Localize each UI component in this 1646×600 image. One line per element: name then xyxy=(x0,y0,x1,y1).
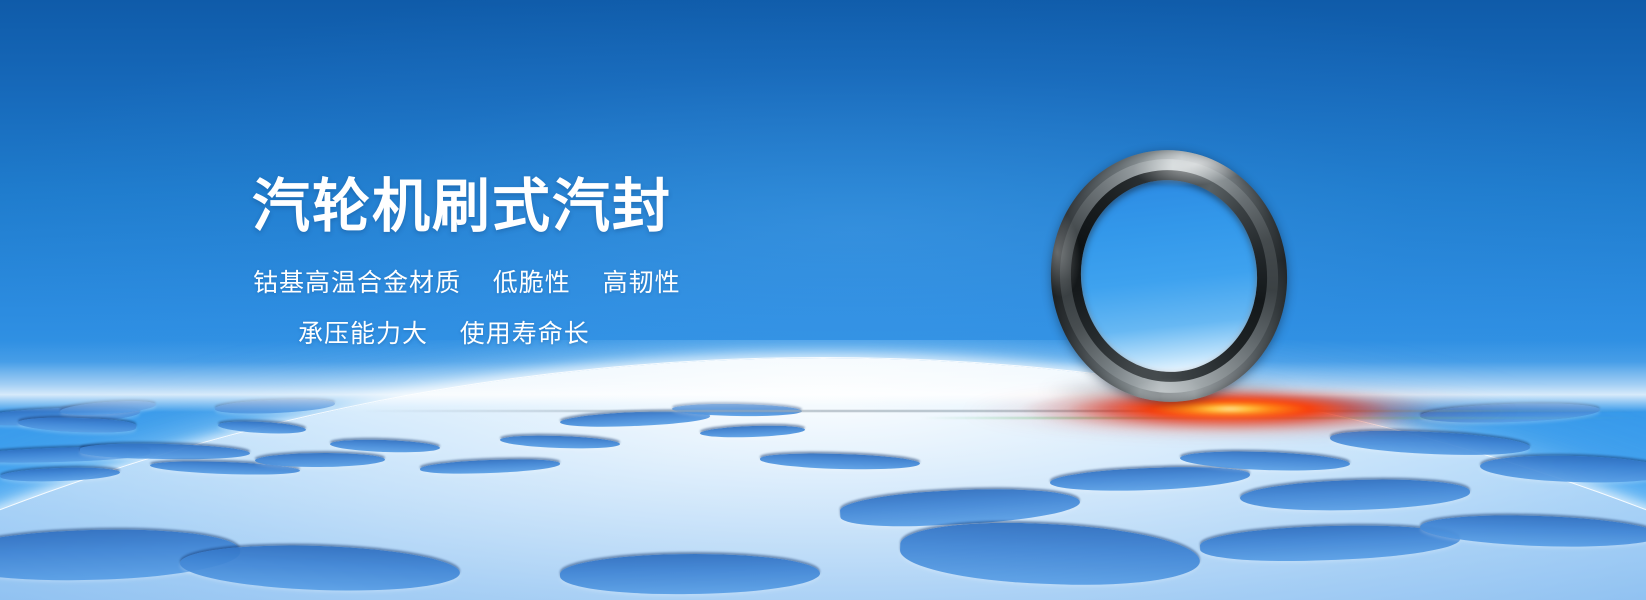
earth-scene xyxy=(0,340,1646,600)
landmass xyxy=(1480,453,1646,486)
landmass xyxy=(215,398,335,415)
banner-subtitle-1: 钴基高温合金材质 低脆性 高韧性 xyxy=(253,271,681,296)
landmass xyxy=(218,420,306,436)
landmass xyxy=(700,424,805,439)
landmass xyxy=(0,466,120,483)
landmass xyxy=(899,519,1201,589)
hero-banner: 汽轮机刷式汽封 钴基高温合金材质 低脆性 高韧性 承压能力大 使用寿命长 xyxy=(0,0,1646,600)
landmass xyxy=(330,438,440,454)
landmass xyxy=(500,434,620,450)
landmass xyxy=(1050,465,1251,494)
banner-headline: 汽轮机刷式汽封 xyxy=(252,178,672,236)
landmass xyxy=(760,451,920,472)
landmass xyxy=(420,458,560,476)
red-glow-reflection xyxy=(1030,416,1430,446)
landmass-layer xyxy=(0,340,1646,600)
product-seal-ring xyxy=(1038,138,1299,413)
banner-subtitle-2: 承压能力大 使用寿命长 xyxy=(298,322,590,347)
landmass xyxy=(179,541,460,595)
landmass xyxy=(1240,476,1471,514)
landmass xyxy=(560,552,821,597)
